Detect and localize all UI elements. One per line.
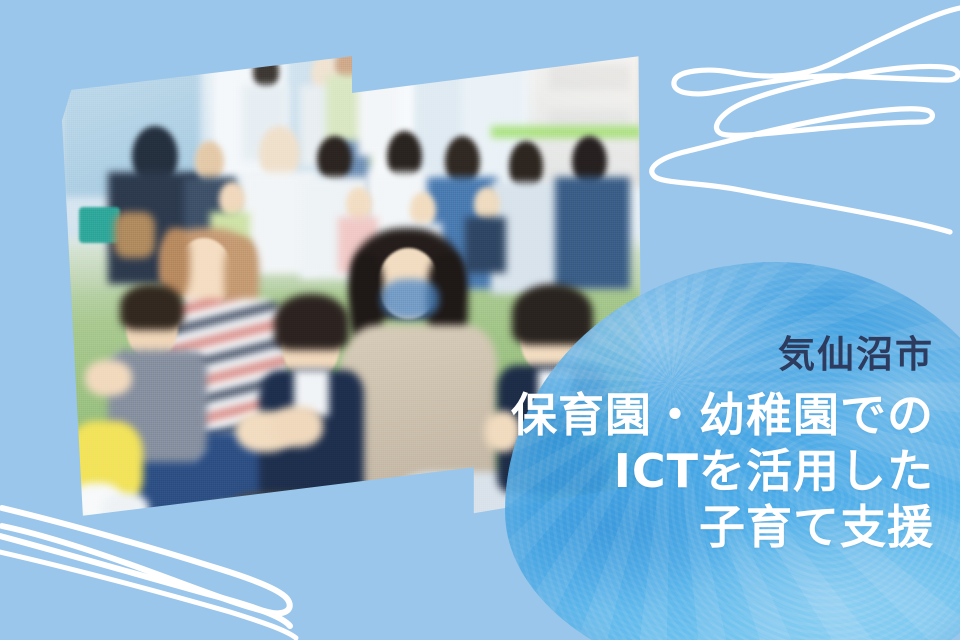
title-line-3: 子育て支援 <box>374 499 934 555</box>
title-block: 気仙沼市 保育園・幼稚園での ICTを活用した 子育て支援 <box>374 336 934 555</box>
scribble-loop-icon <box>630 0 960 240</box>
poster-canvas: 気仙沼市 保育園・幼稚園での ICTを活用した 子育て支援 <box>0 0 960 640</box>
title-line-2: ICTを活用した <box>374 443 934 499</box>
title-line-1: 保育園・幼稚園での <box>374 387 934 443</box>
city-name: 気仙沼市 <box>374 336 934 373</box>
